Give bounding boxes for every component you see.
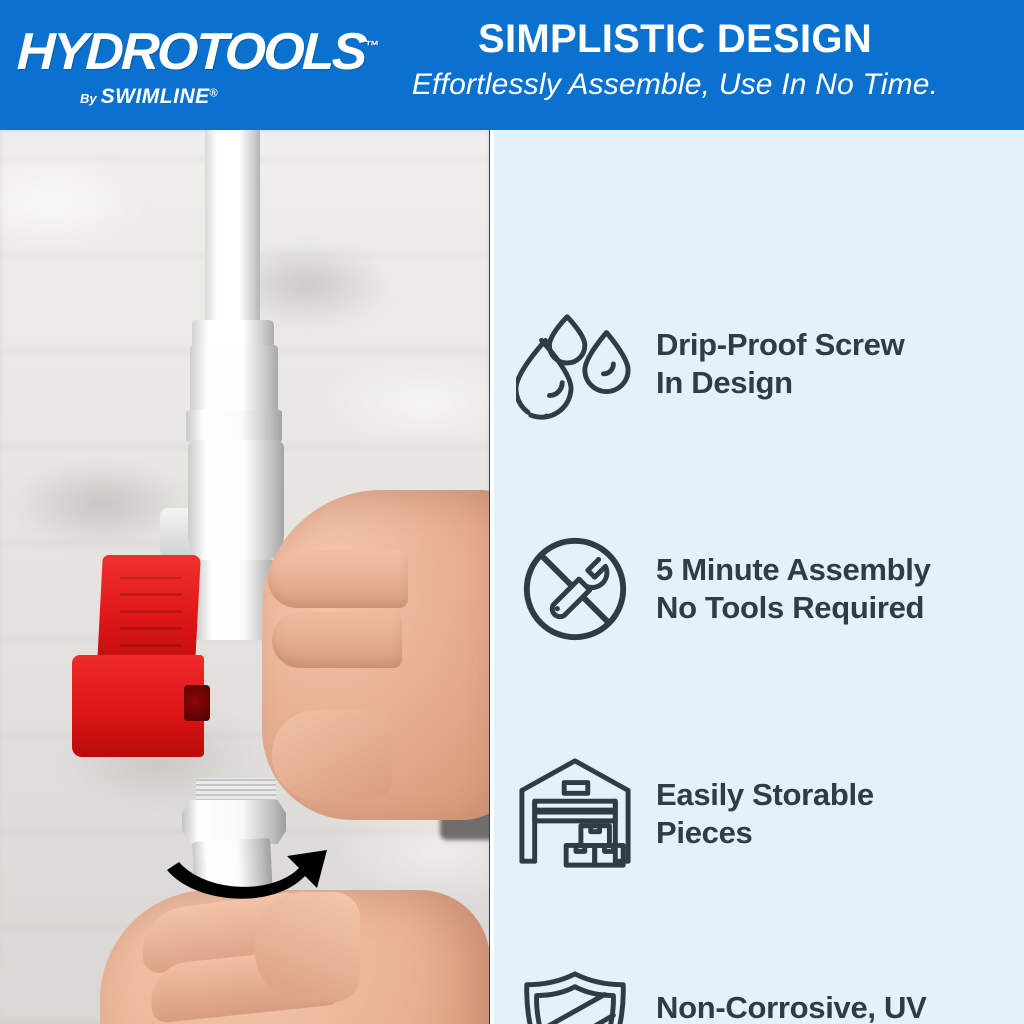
panel-divider [489,130,490,1024]
brand-logo-parent: SWIMLINE [101,85,210,108]
pvc-collar [190,345,278,415]
feature-item-drip-proof: Drip-Proof Screw In Design [494,305,1024,423]
brand-logo-sublabel: BySWIMLINE® [80,86,218,107]
feature-line-2: In Design [656,364,1024,402]
feature-line-2: No Tools Required [656,589,1024,627]
shield-icon [516,968,634,1024]
product-photo [0,130,490,1024]
pvc-hex-nut [182,800,286,844]
header-banner: HYDROTOOLS™ BySWIMLINE® SIMPLISTIC DESIG… [0,0,1024,130]
warehouse-storage-icon [516,755,634,873]
header-text-block: SIMPLISTIC DESIGN Effortlessly Assemble,… [330,18,1020,103]
content-area: Drip-Proof Screw In Design 5 Minute [0,130,1024,1024]
feature-item-non-corrosive: Non-Corrosive, UV Resistant Materials [494,968,1024,1024]
brand-logo-wordmark: HYDROTOOLS™ [16,26,298,78]
red-valve-handle [72,555,207,755]
pvc-nut-upper [186,410,282,442]
feature-label: 5 Minute Assembly No Tools Required [656,551,1024,627]
feature-line-1: 5 Minute Assembly [656,551,1024,589]
valve-handle-hub [184,685,210,721]
brand-logo-name: HYDROTOOLS [16,23,366,81]
pvc-pipe-upper [205,130,260,326]
feature-label: Drip-Proof Screw In Design [656,326,1024,402]
upper-hand-finger-1 [268,550,408,608]
feature-line-1: Non-Corrosive, UV [656,989,1024,1024]
feature-item-no-tools: 5 Minute Assembly No Tools Required [494,530,1024,648]
feature-label: Easily Storable Pieces [656,776,1024,852]
feature-label: Non-Corrosive, UV Resistant Materials [656,989,1024,1024]
water-droplets-icon [516,305,634,423]
valve-body [188,440,284,565]
no-tools-icon [516,530,634,648]
brand-logo-by: By [80,91,97,106]
product-feature-infographic: HYDROTOOLS™ BySWIMLINE® SIMPLISTIC DESIG… [0,0,1024,1024]
valve-handle-grip-grooves [120,577,182,647]
page-subtitle: Effortlessly Assemble, Use In No Time. [330,67,1020,103]
registered-icon: ® [210,88,218,100]
upper-hand-finger-2 [272,612,402,668]
pvc-pipe-joint [192,320,274,348]
rotate-arrow-icon [165,848,330,906]
features-panel: Drip-Proof Screw In Design 5 Minute [494,130,1024,1024]
feature-line-1: Drip-Proof Screw [656,326,1024,364]
feature-line-1: Easily Storable [656,776,1024,814]
lower-hand-thumb [255,892,360,1002]
brand-logo: HYDROTOOLS™ BySWIMLINE® [18,26,293,106]
upper-hand-thumb [272,710,392,800]
page-title: SIMPLISTIC DESIGN [330,18,1020,61]
feature-line-2: Pieces [656,814,1024,852]
feature-item-storable: Easily Storable Pieces [494,755,1024,873]
